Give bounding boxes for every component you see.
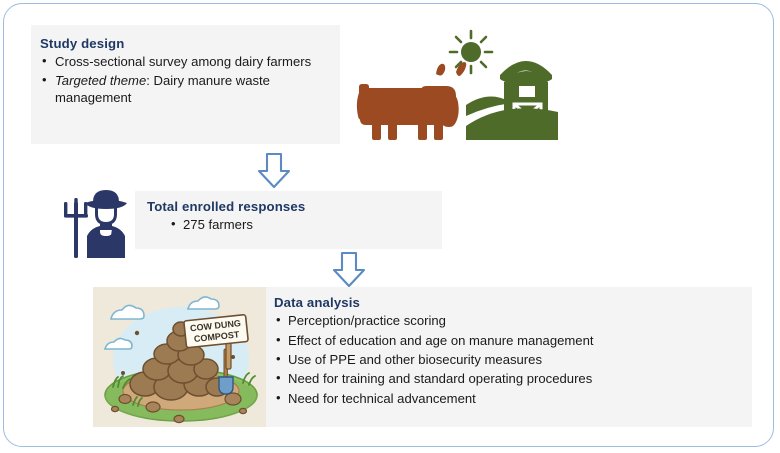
study-design-bullet-0-text: Cross-sectional survey among dairy farme… xyxy=(55,54,311,69)
head xyxy=(95,199,117,225)
pitchfork-tines xyxy=(64,198,88,218)
list-item: Targeted theme: Dairy manure waste manag… xyxy=(40,72,330,107)
cow-icon xyxy=(357,62,466,140)
data-analysis-bullet-list: Perception/practice scoring Effect of ed… xyxy=(274,312,744,407)
data-analysis-bullet-1-text: Effect of education and age on manure ma… xyxy=(288,333,594,348)
farmer-icon xyxy=(61,180,145,262)
study-design-bullet-list: Cross-sectional survey among dairy farme… xyxy=(40,53,330,106)
farmer-artwork xyxy=(61,180,145,262)
cow-and-barn-artwork xyxy=(340,28,558,150)
total-enrolled-bullet-list: 275 farmers xyxy=(147,216,432,233)
total-enrolled-title: Total enrolled responses xyxy=(147,199,432,215)
sun-icon xyxy=(450,31,492,73)
list-item: Need for technical advancement xyxy=(274,390,744,407)
list-item: Effect of education and age on manure ma… xyxy=(274,332,744,349)
data-analysis-bullet-4-text: Need for technical advancement xyxy=(288,391,476,406)
data-analysis-bullet-3-text: Need for training and standard operating… xyxy=(288,371,592,386)
down-arrow-icon xyxy=(330,251,368,289)
compost-artwork: COW DUNG COMPOST xyxy=(93,287,266,427)
overalls xyxy=(87,226,125,258)
data-analysis-bullet-2-text: Use of PPE and other biosecurity measure… xyxy=(288,352,542,367)
down-arrow-icon xyxy=(255,152,293,190)
list-item: Perception/practice scoring xyxy=(274,312,744,329)
list-item: Cross-sectional survey among dairy farme… xyxy=(40,53,330,70)
total-enrolled-panel: Total enrolled responses 275 farmers xyxy=(135,191,442,249)
study-design-bullet-1-emphasis: Targeted theme xyxy=(55,73,146,88)
data-analysis-panel: Data analysis Perception/practice scorin… xyxy=(266,287,752,427)
data-analysis-bullet-0-text: Perception/practice scoring xyxy=(288,313,446,328)
list-item: Need for training and standard operating… xyxy=(274,370,744,387)
figure-border-frame: Study design Cross-sectional survey amon… xyxy=(3,3,774,447)
study-design-title: Study design xyxy=(40,36,330,52)
down-arrow-1 xyxy=(255,152,293,195)
compost-pile-illustration: COW DUNG COMPOST xyxy=(93,287,266,427)
list-item: 275 farmers xyxy=(169,216,432,233)
barn-window xyxy=(519,86,535,97)
list-item: Use of PPE and other biosecurity measure… xyxy=(274,351,744,368)
study-design-panel: Study design Cross-sectional survey amon… xyxy=(31,25,340,144)
total-enrolled-bullet-0-text: 275 farmers xyxy=(183,217,253,232)
cow-barn-svg xyxy=(340,28,558,150)
data-analysis-title: Data analysis xyxy=(274,295,744,311)
